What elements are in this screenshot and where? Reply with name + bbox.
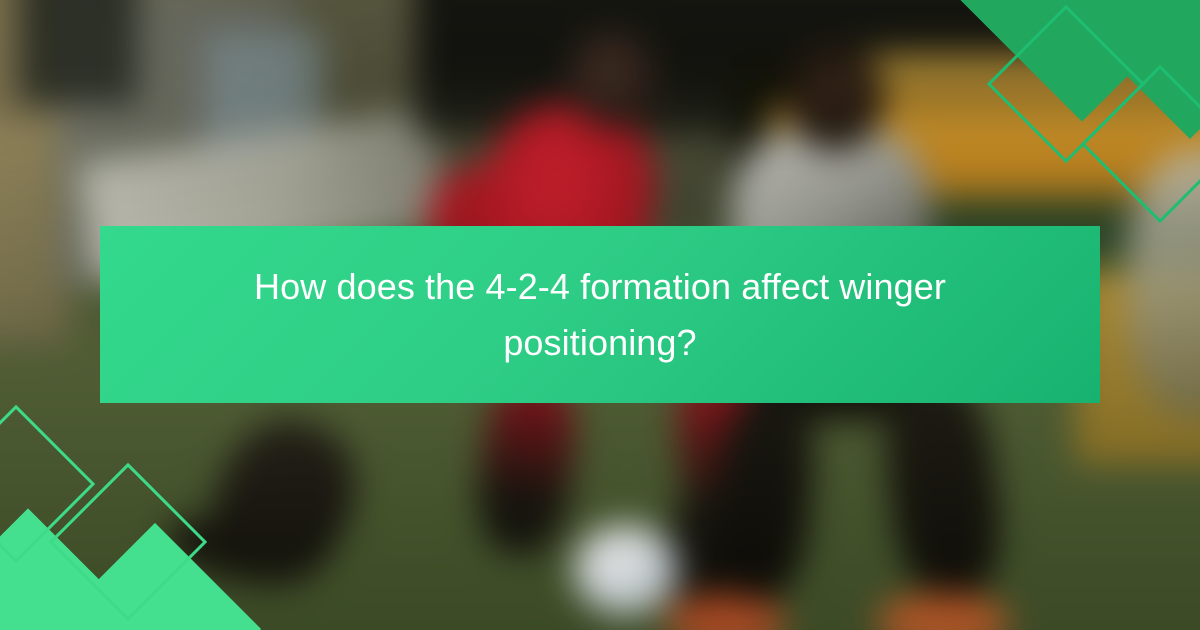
question-title: How does the 4-2-4 formation affect wing…	[160, 259, 1040, 371]
question-card: How does the 4-2-4 formation affect wing…	[0, 0, 1200, 630]
question-banner: How does the 4-2-4 formation affect wing…	[100, 226, 1100, 403]
